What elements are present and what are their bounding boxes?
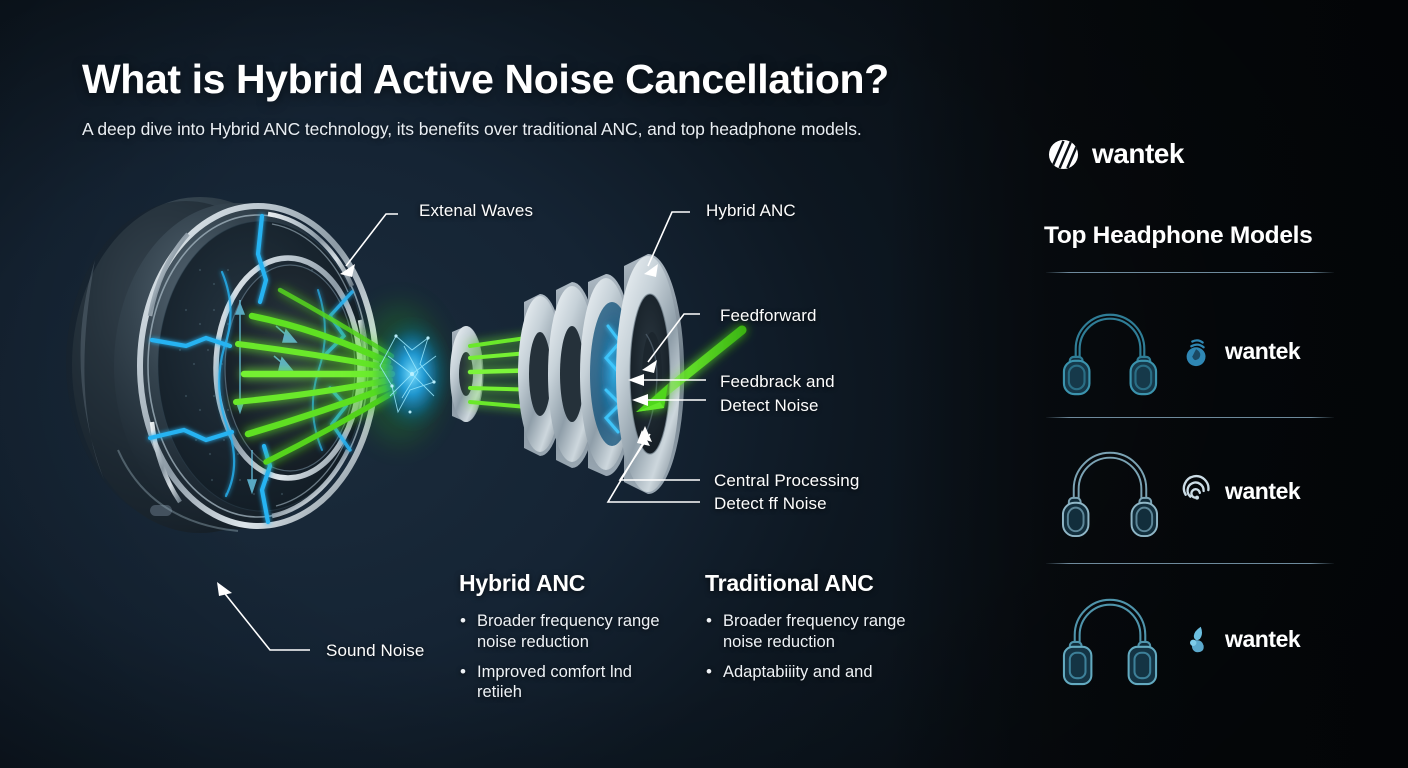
voice-coil-node xyxy=(372,316,452,432)
comparison-title: Hybrid ANC xyxy=(459,570,674,597)
page-subtitle: A deep dive into Hybrid ANC technology, … xyxy=(82,119,862,140)
comparison-hybrid-anc: Hybrid ANC Broader frequency range noise… xyxy=(459,570,674,712)
panel-heading: Top Headphone Models xyxy=(1044,222,1313,250)
comparison-bullet: Adaptabiiity and and xyxy=(705,662,920,683)
spiral-swirl-icon xyxy=(1180,474,1214,508)
divider xyxy=(1046,417,1334,418)
comparison-bullet: Broader frequency range noise reduction xyxy=(705,611,920,653)
page-title: What is Hybrid Active Noise Cancellation… xyxy=(82,56,889,103)
infographic-canvas: What is Hybrid Active Noise Cancellation… xyxy=(0,0,1408,768)
product-row[interactable]: wantek xyxy=(1046,432,1338,550)
product-brand-name: wantek xyxy=(1225,478,1300,505)
comparison-traditional-anc: Traditional ANC Broader frequency range … xyxy=(705,570,920,691)
leaf-droplet-icon xyxy=(1180,622,1214,656)
product-brand: wantek xyxy=(1180,334,1300,368)
over-ear-headphone-icon xyxy=(1046,590,1174,688)
annotation-sound-noise: Sound Noise xyxy=(326,640,424,662)
divider xyxy=(1046,272,1334,273)
product-brand: wantek xyxy=(1180,622,1300,656)
annotation-feedforward: Feedforward xyxy=(720,305,817,327)
comparison-bullet-list: Broader frequency range noise reduction … xyxy=(705,611,920,682)
product-brand-name: wantek xyxy=(1225,626,1300,653)
comparison-bullet: Improved comfort lnd retiieh xyxy=(459,662,674,704)
comparison-bullet-list: Broader frequency range noise reduction … xyxy=(459,611,674,703)
top-models-panel: wantek Top Headphone Models xyxy=(1040,0,1408,768)
over-ear-headphone-icon xyxy=(1046,442,1174,540)
annotation-central-processing: Central Processing xyxy=(714,470,859,492)
soundwave-circle-icon xyxy=(1180,334,1214,368)
annotation-hybrid-anc: Hybrid ANC xyxy=(706,200,796,222)
over-ear-headphone-icon xyxy=(1046,302,1174,400)
annotation-detect-ff-noise: Detect ff Noise xyxy=(714,493,827,515)
annotation-feedback-line1: Feedbrack and xyxy=(720,371,835,393)
slashed-circle-icon xyxy=(1048,139,1079,170)
brand-name: wantek xyxy=(1092,138,1184,170)
divider xyxy=(1046,563,1334,564)
comparison-bullet: Broader frequency range noise reduction xyxy=(459,611,674,653)
disc-front-large xyxy=(616,254,684,494)
brand-logo: wantek xyxy=(1048,138,1184,170)
annotation-external-waves: Extenal Waves xyxy=(419,200,533,222)
product-brand: wantek xyxy=(1180,474,1300,508)
product-row[interactable]: wantek xyxy=(1046,292,1338,410)
product-brand-name: wantek xyxy=(1225,338,1300,365)
product-row[interactable]: wantek xyxy=(1046,580,1338,698)
annotation-feedback-line2: Detect Noise xyxy=(720,395,819,417)
comparison-title: Traditional ANC xyxy=(705,570,920,597)
